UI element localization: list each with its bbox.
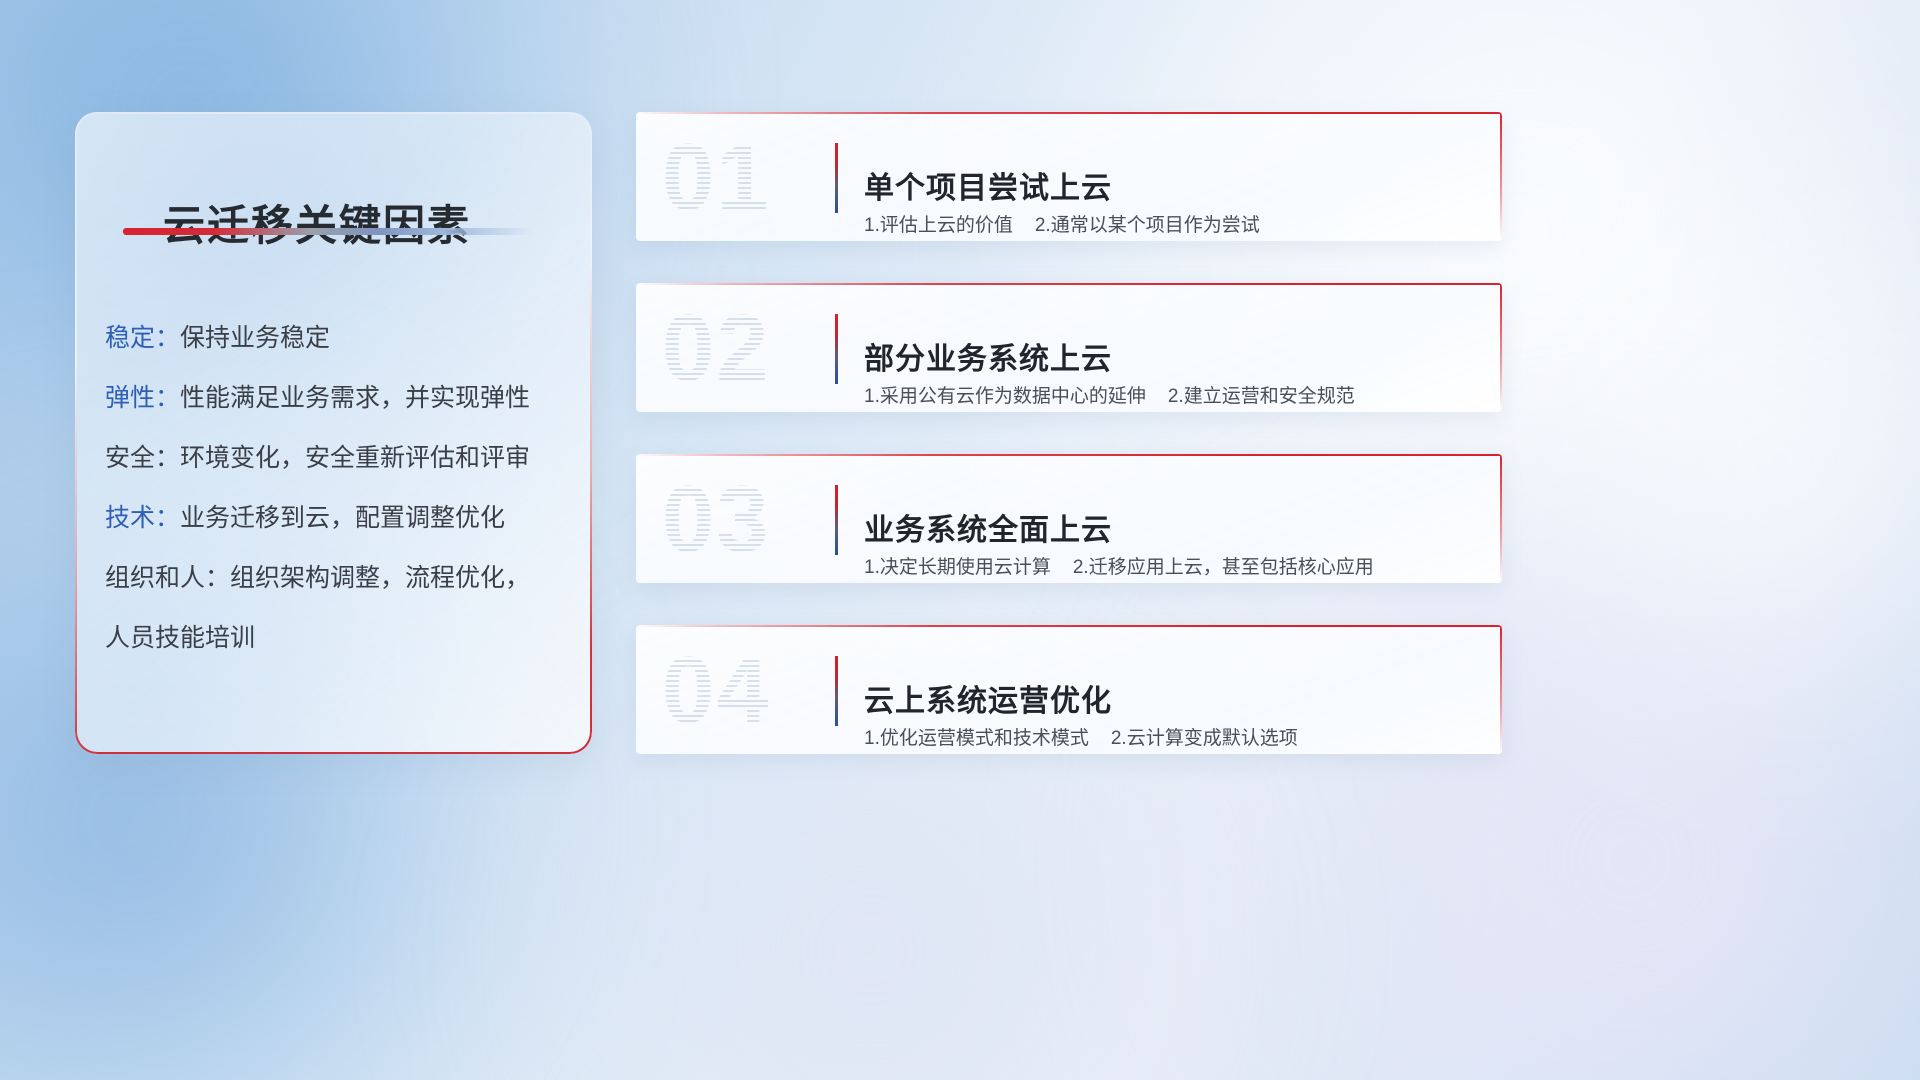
- key-factor-label: 弹性：: [105, 384, 180, 412]
- stage-description: 1.评估上云的价值2.通常以某个项目作为尝试: [864, 210, 1260, 237]
- stage-description-item-2: 2.迁移应用上云，甚至包括核心应用: [1073, 557, 1374, 578]
- key-factor-text: 业务迁移到云，配置调整优化: [180, 504, 505, 532]
- stage-description-item-2: 2.云计算变成默认选项: [1111, 728, 1298, 749]
- stage-number-watermark: 02: [662, 293, 822, 403]
- migration-stage-card[interactable]: 03业务系统全面上云1.决定长期使用云计算2.迁移应用上云，甚至包括核心应用: [636, 454, 1502, 583]
- migration-stage-card[interactable]: 04云上系统运营优化1.优化运营模式和技术模式2.云计算变成默认选项: [636, 625, 1502, 754]
- stage-title: 单个项目尝试上云: [864, 163, 1112, 207]
- key-factor-row: 技术：业务迁移到云，配置调整优化: [105, 488, 566, 548]
- stage-description-item-2: 2.建立运营和安全规范: [1168, 386, 1355, 407]
- key-factor-text: 性能满足业务需求，并实现弹性: [180, 384, 530, 412]
- stage-title: 云上系统运营优化: [864, 676, 1112, 720]
- key-factor-row: 组织和人：组织架构调整，流程优化，: [105, 548, 566, 608]
- stage-description-item-2: 2.通常以某个项目作为尝试: [1035, 215, 1260, 236]
- title-underline-rule: [123, 228, 533, 235]
- stage-number-watermark: 03: [662, 464, 822, 574]
- stage-description-item-1: 1.优化运营模式和技术模式: [864, 728, 1089, 749]
- stage-number-watermark: 01: [662, 122, 822, 232]
- key-factor-text: 组织架构调整，流程优化，: [230, 564, 530, 592]
- accent-bar: [835, 656, 838, 726]
- key-factor-label: 组织和人：: [105, 564, 230, 592]
- key-factor-text: 保持业务稳定: [180, 324, 330, 352]
- stage-number-watermark: 04: [662, 635, 822, 745]
- key-factor-label: 技术：: [105, 504, 180, 532]
- key-factors-list: 稳定：保持业务稳定弹性：性能满足业务需求，并实现弹性安全：环境变化，安全重新评估…: [105, 308, 566, 668]
- key-factor-row: 弹性：性能满足业务需求，并实现弹性: [105, 368, 566, 428]
- slide-canvas: 云迁移关键因素 稳定：保持业务稳定弹性：性能满足业务需求，并实现弹性安全：环境变…: [0, 0, 1920, 1080]
- migration-stage-card[interactable]: 01单个项目尝试上云1.评估上云的价值2.通常以某个项目作为尝试: [636, 112, 1502, 241]
- stage-title: 部分业务系统上云: [864, 334, 1112, 378]
- key-factor-label: 安全：: [105, 444, 180, 472]
- stage-description-item-1: 1.评估上云的价值: [864, 215, 1013, 236]
- stage-title: 业务系统全面上云: [864, 505, 1112, 549]
- key-factor-row: 安全：环境变化，安全重新评估和评审: [105, 428, 566, 488]
- migration-stage-cards: 01单个项目尝试上云1.评估上云的价值2.通常以某个项目作为尝试02部分业务系统…: [636, 112, 1502, 796]
- stage-description: 1.决定长期使用云计算2.迁移应用上云，甚至包括核心应用: [864, 552, 1374, 579]
- stage-description: 1.优化运营模式和技术模式2.云计算变成默认选项: [864, 723, 1298, 750]
- stage-description: 1.采用公有云作为数据中心的延伸2.建立运营和安全规范: [864, 381, 1355, 408]
- key-factor-row: 稳定：保持业务稳定: [105, 308, 566, 368]
- stage-description-item-1: 1.采用公有云作为数据中心的延伸: [864, 386, 1146, 407]
- accent-bar: [835, 314, 838, 384]
- key-factor-row: 人员技能培训: [105, 608, 566, 668]
- accent-bar: [835, 485, 838, 555]
- stage-description-item-1: 1.决定长期使用云计算: [864, 557, 1051, 578]
- key-factor-text: 人员技能培训: [105, 624, 255, 652]
- page-title: 云迁移关键因素: [163, 192, 471, 253]
- key-factor-text: 环境变化，安全重新评估和评审: [180, 444, 530, 472]
- accent-bar: [835, 143, 838, 213]
- key-factors-panel: 云迁移关键因素 稳定：保持业务稳定弹性：性能满足业务需求，并实现弹性安全：环境变…: [75, 112, 592, 754]
- key-factor-label: 稳定：: [105, 324, 180, 352]
- migration-stage-card[interactable]: 02部分业务系统上云1.采用公有云作为数据中心的延伸2.建立运营和安全规范: [636, 283, 1502, 412]
